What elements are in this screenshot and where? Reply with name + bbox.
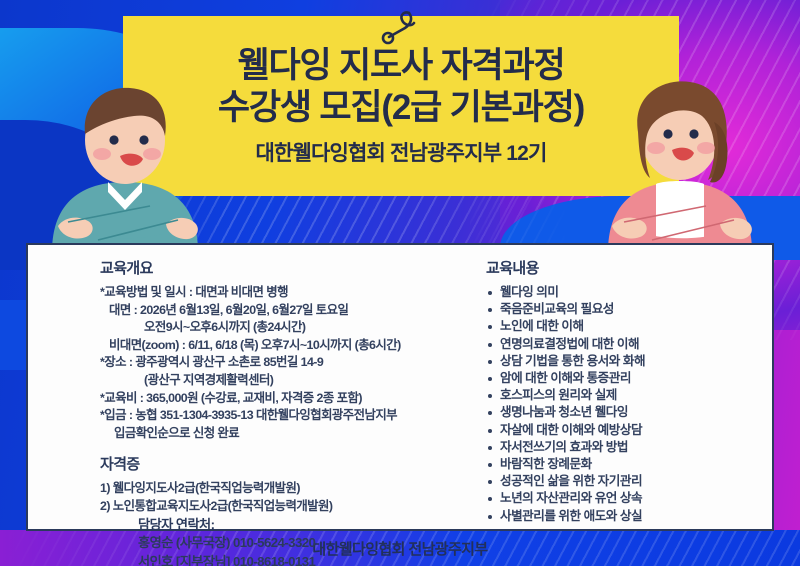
list-item: 상담 기법을 통한 용서와 화해 [486, 353, 756, 370]
list-item: 호스피스의 원리와 실제 [486, 387, 756, 404]
overview-line: (광산구 지역경제활력센터) [100, 372, 452, 390]
info-card: 교육개요 *교육방법 및 일시 : 대면과 비대면 병행 대면 : 2026년 … [26, 243, 774, 531]
contact-person: 홍영순 (사무국장) 010-5624-3320 [100, 534, 452, 553]
content-list: 웰다잉 의미 죽음준비교육의 필요성 노인에 대한 이해 연명의료결정법에 대한… [486, 284, 756, 525]
overview-line: 대면 : 2026년 6월13일, 6월20일, 6월27일 토요일 [100, 302, 452, 320]
list-item: 암에 대한 이해와 통증관리 [486, 370, 756, 387]
list-item: 성공적인 삶을 위한 자기관리 [486, 473, 756, 490]
list-item: 연명의료결정법에 대한 이해 [486, 336, 756, 353]
overview-line: *입금 : 농협 351-1304-3935-13 대한웰다잉협회광주전남지부 [100, 407, 452, 425]
list-item: 노인에 대한 이해 [486, 318, 756, 335]
man-illustration [38, 74, 213, 252]
overview-line: 오전9시~오후6시까지 (총24시간) [100, 319, 452, 337]
certificate-item: 2) 노인통합교육지도사2급(한국직업능력개발원) [100, 498, 452, 516]
contact-heading: 담당자 연락처: [100, 516, 452, 535]
list-item: 바람직한 장례문화 [486, 456, 756, 473]
certificate-item: 1) 웰다잉지도사2급(한국직업능력개발원) [100, 480, 452, 498]
overview-heading: 교육개요 [100, 257, 452, 278]
overview-line: 입금확인순으로 신청 완료 [100, 425, 452, 443]
contact-person: 서인호 [지부장님] 010-8618-0131 [100, 553, 452, 566]
poster-root: 웰다잉 지도사 자격과정 수강생 모집(2급 기본과정) 대한웰다잉협회 전남광… [0, 0, 800, 566]
content-heading: 교육내용 [486, 257, 756, 278]
list-item: 웰다잉 의미 [486, 284, 756, 301]
certificates-heading: 자격증 [100, 453, 452, 474]
list-item: 생명나눔과 청소년 웰다잉 [486, 404, 756, 421]
list-item: 자서전쓰기의 효과와 방법 [486, 439, 756, 456]
overview-line: 비대면(zoom) : 6/11, 6/18 (목) 오후7시~10시까지 (총… [100, 337, 452, 355]
overview-line: *장소 : 광주광역시 광산구 소촌로 85번길 14-9 [100, 354, 452, 372]
overview-column: 교육개요 *교육방법 및 일시 : 대면과 비대면 병행 대면 : 2026년 … [44, 257, 452, 519]
list-item: 노년의 자산관리와 유언 상속 [486, 490, 756, 507]
safety-pin-icon [378, 6, 424, 52]
content-column: 교육내용 웰다잉 의미 죽음준비교육의 필요성 노인에 대한 이해 연명의료결정… [452, 257, 756, 519]
list-item: 죽음준비교육의 필요성 [486, 301, 756, 318]
overview-line: *교육방법 및 일시 : 대면과 비대면 병행 [100, 284, 452, 302]
list-item: 사별관리를 위한 애도와 상실 [486, 508, 756, 525]
overview-line: *교육비 : 365,000원 (수강료, 교재비, 자격증 2종 포함) [100, 390, 452, 408]
list-item: 자살에 대한 이해와 예방상담 [486, 422, 756, 439]
woman-illustration [590, 70, 770, 252]
